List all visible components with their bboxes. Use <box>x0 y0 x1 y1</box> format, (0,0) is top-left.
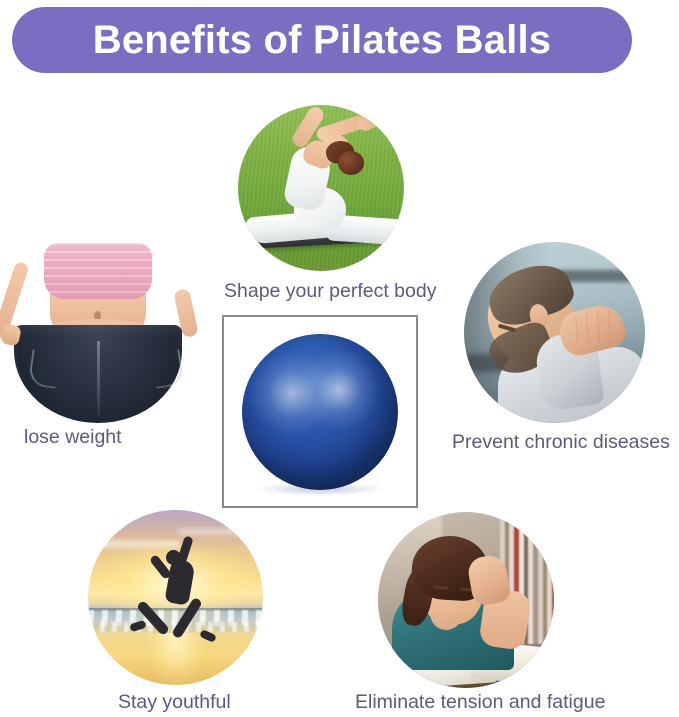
benefit-image-prevent-chronic-diseases <box>464 242 645 423</box>
beach-jumping-silhouette <box>88 510 263 685</box>
product-image-frame <box>222 315 418 508</box>
benefit-label-lose-weight: lose weight <box>24 426 122 449</box>
title-banner: Benefits of Pilates Balls <box>12 7 632 73</box>
benefit-label-shape-your-perfect-body: Shape your perfect body <box>224 280 436 303</box>
weightloss-pink-top <box>44 243 152 299</box>
product-pilates-ball <box>242 334 398 490</box>
benefit-image-shape-your-perfect-body <box>238 105 404 271</box>
benefit-image-lose-weight <box>2 233 212 429</box>
benefit-label-prevent-chronic-diseases: Prevent chronic diseases <box>452 431 670 454</box>
silhouette-torso <box>164 558 195 605</box>
benefit-image-eliminate-tension-and-fatigue <box>378 512 554 688</box>
benefit-image-stay-youthful <box>88 510 263 685</box>
silhouette-front-foot <box>199 629 217 643</box>
silhouette-back-leg <box>136 600 170 636</box>
weightloss-jeans-pocket-right <box>152 349 185 389</box>
page-title: Benefits of Pilates Balls <box>93 20 551 60</box>
benefit-label-stay-youthful: Stay youthful <box>118 691 231 714</box>
benefit-label-eliminate-tension-and-fatigue: Eliminate tension and fatigue <box>355 691 605 714</box>
yoga-hair-bun <box>338 151 364 175</box>
silhouette-back-foot <box>129 620 147 633</box>
